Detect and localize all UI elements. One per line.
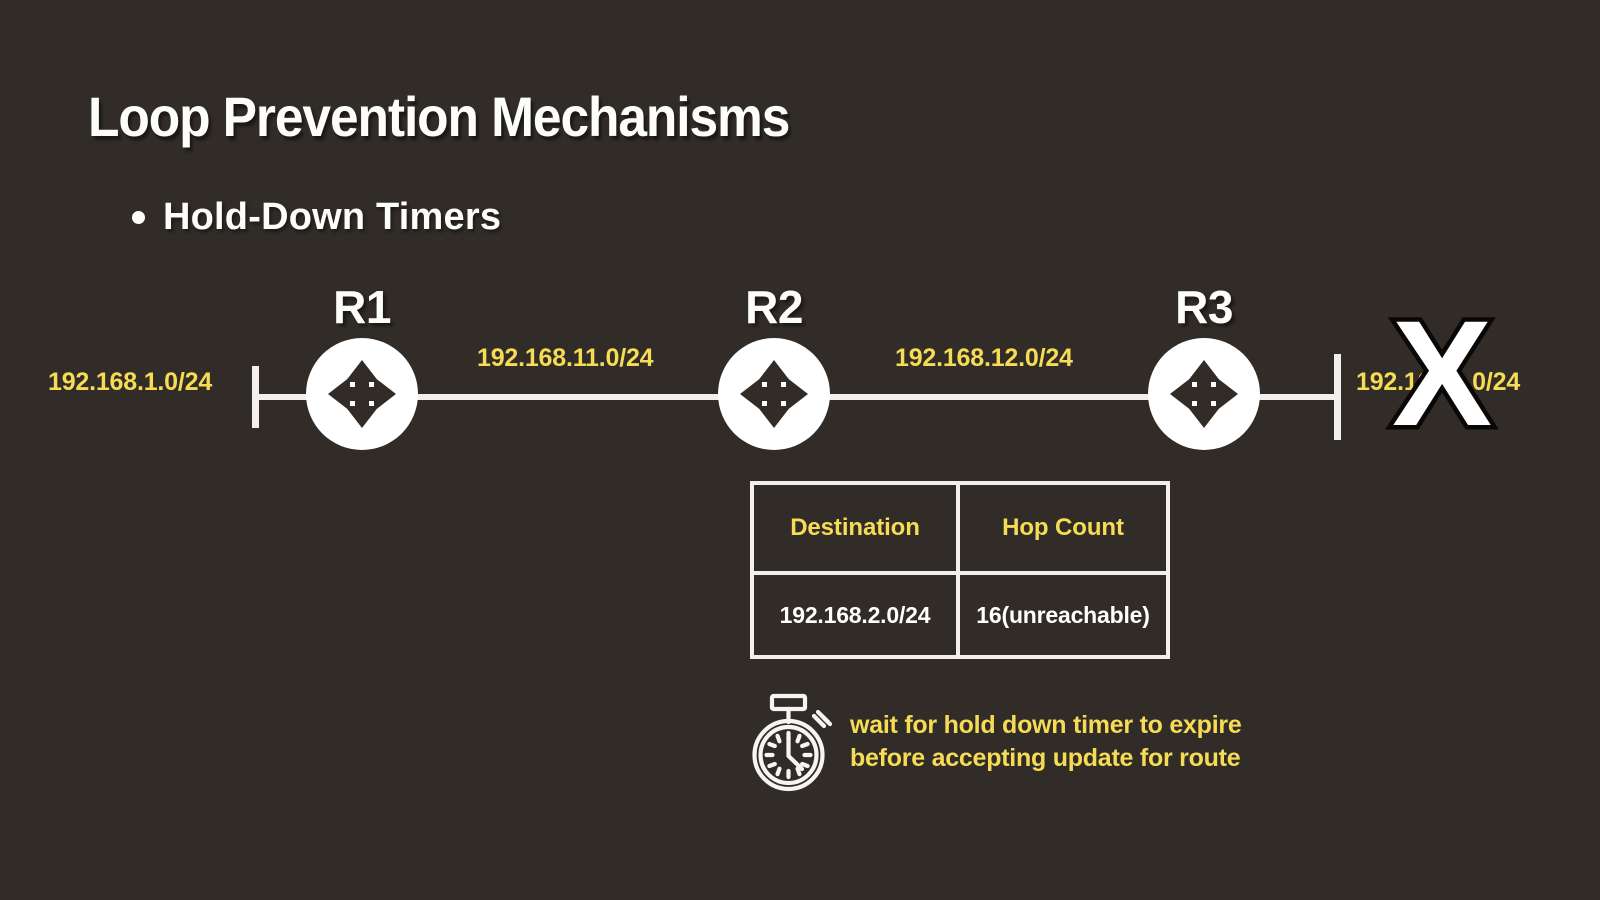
link-line-r2-r3: [826, 394, 1156, 400]
routing-table: Destination Hop Count 192.168.2.0/24 16(…: [750, 481, 1170, 659]
table-header-row: Destination Hop Count: [752, 483, 1168, 573]
stopwatch-icon: [742, 690, 836, 794]
hold-down-timer-text: wait for hold down timer to expire befor…: [850, 709, 1242, 776]
link-line-r1-r2: [410, 394, 730, 400]
hold-down-timer-line-2: before accepting update for route: [850, 742, 1242, 776]
link-line-right-stub: [1250, 394, 1340, 400]
hold-down-timer-line-1: wait for hold down timer to expire: [850, 709, 1242, 743]
router-icon: [718, 338, 830, 450]
router-label-r3: R3: [1124, 280, 1284, 334]
hold-down-timer-note: wait for hold down timer to expire befor…: [742, 690, 1242, 794]
network-label-r1-r2: 192.168.11.0/24: [477, 344, 653, 373]
router-node-r1[interactable]: [306, 338, 418, 450]
network-label-left-stub: 192.168.1.0/24: [48, 368, 212, 397]
table-cell-destination: 192.168.2.0/24: [752, 573, 958, 657]
network-label-r2-r3: 192.168.12.0/24: [895, 344, 1073, 373]
bullet-item-label: Hold-Down Timers: [163, 196, 501, 239]
router-node-r2[interactable]: [718, 338, 830, 450]
table-header-destination: Destination: [752, 483, 958, 573]
table-header-hop-count: Hop Count: [958, 483, 1168, 573]
right-stub-terminator: [1334, 354, 1341, 440]
router-node-r3[interactable]: [1148, 338, 1260, 450]
table-cell-hop-count: 16(unreachable): [958, 573, 1168, 657]
router-icon: [306, 338, 418, 450]
router-label-r2: R2: [694, 280, 854, 334]
page-title: Loop Prevention Mechanisms: [88, 84, 789, 149]
router-icon: [1148, 338, 1260, 450]
router-label-r1: R1: [282, 280, 442, 334]
table-row: 192.168.2.0/24 16(unreachable): [752, 573, 1168, 657]
slide-canvas: Loop Prevention Mechanisms Hold-Down Tim…: [0, 0, 1600, 900]
bullet-item-hold-down-timers: Hold-Down Timers: [132, 196, 501, 239]
x-failure-icon: X: [1392, 298, 1492, 448]
bullet-dot-icon: [132, 211, 145, 224]
